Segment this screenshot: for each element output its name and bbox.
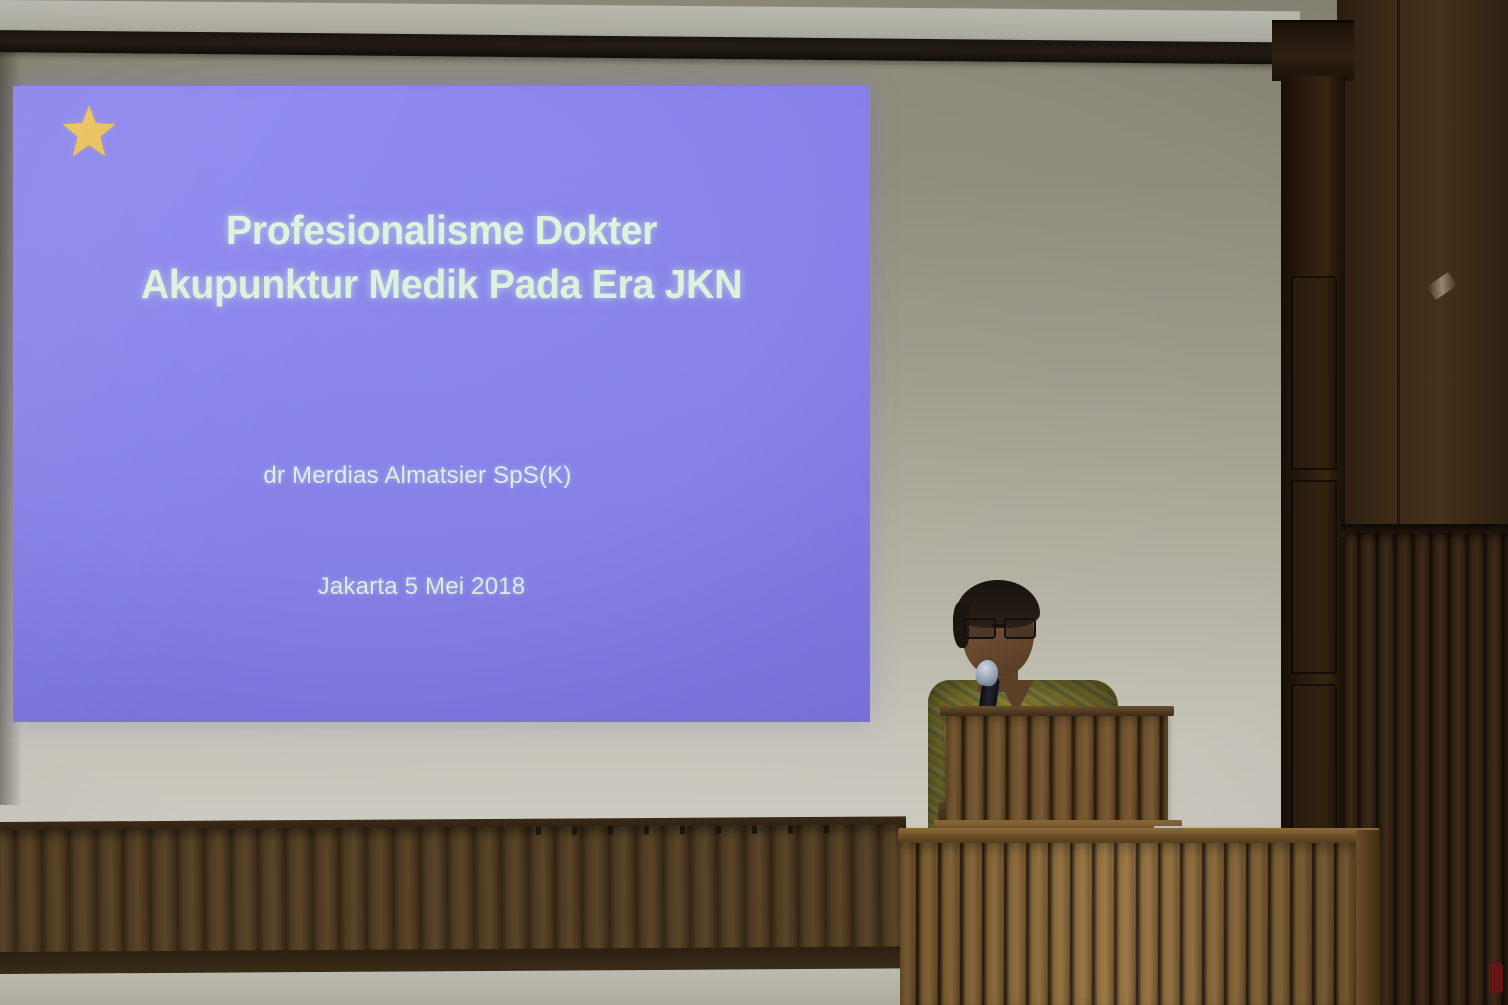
red-object xyxy=(1489,963,1503,993)
wainscot-rail-clips xyxy=(536,825,836,835)
slide-author: dr Merdias Almatsier SpS(K) xyxy=(13,462,846,490)
column-panel-2 xyxy=(1291,480,1337,674)
lectern-slat-front xyxy=(946,712,1168,828)
slide-title: Profesionalisme Dokter Akupunktur Medik … xyxy=(30,204,853,311)
glasses-lens-left xyxy=(964,618,996,639)
wall-wainscot-panel xyxy=(0,824,907,965)
glasses-lens-right xyxy=(1004,618,1036,639)
glasses-icon xyxy=(964,618,1034,635)
counter-desk-right-edge xyxy=(1356,830,1380,1005)
wood-light-glint xyxy=(1427,272,1457,300)
counter-desk-shading xyxy=(900,843,1378,1005)
projected-slide: Profesionalisme Dokter Akupunktur Medik … xyxy=(13,86,870,722)
presentation-photo-scene: Profesionalisme Dokter Akupunktur Medik … xyxy=(0,0,1508,1005)
column-capital xyxy=(1272,20,1354,81)
lectern-top-edge xyxy=(940,706,1174,716)
slide-place-and-date: Jakarta 5 Mei 2018 xyxy=(13,573,850,601)
column-panel-1 xyxy=(1291,276,1337,470)
glasses-bridge xyxy=(992,624,1004,627)
counter-desk-top xyxy=(898,828,1380,844)
wood-panel-seam xyxy=(1397,0,1400,540)
star-icon xyxy=(61,104,117,158)
